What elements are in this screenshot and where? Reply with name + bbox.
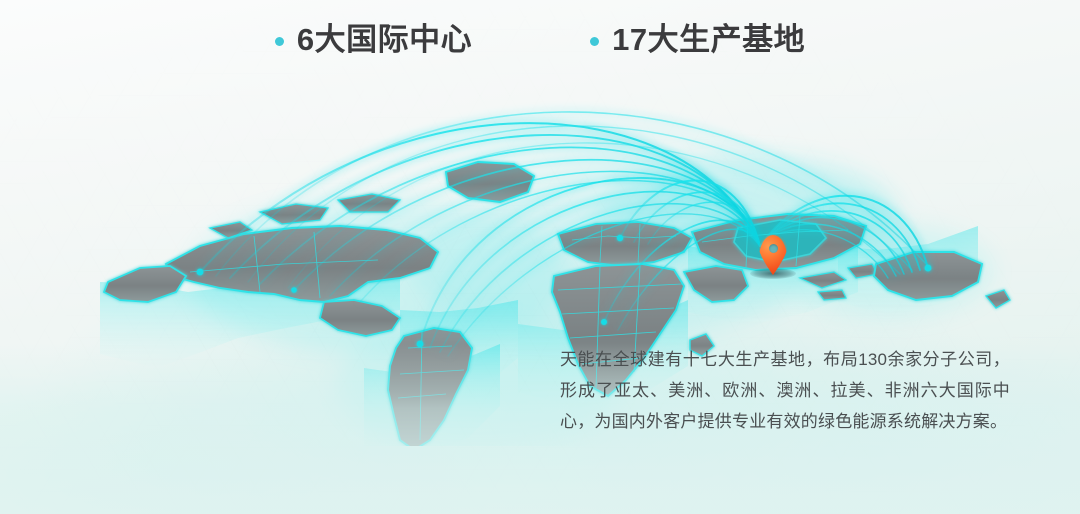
headings-row: 6大国际中心 17大生产基地	[0, 22, 1080, 58]
description-paragraph: 天能在全球建有十七大生产基地，布局130余家分子公司，形成了亚太、美洲、欧洲、澳…	[560, 344, 1010, 437]
pin-hole-icon	[769, 244, 778, 253]
pin-body-icon	[759, 235, 787, 275]
heading-item-international-centers: 6大国际中心	[275, 22, 472, 58]
bullet-dot-icon	[590, 37, 599, 46]
infographic-slide: 6大国际中心 17大生产基地 天能在全球建有十七大生产基地，布局130余家分子公…	[0, 0, 1080, 514]
heading-item-production-bases: 17大生产基地	[590, 22, 805, 58]
bullet-dot-icon	[275, 37, 284, 46]
heading-label-international-centers: 6大国际中心	[297, 22, 472, 58]
location-pin-marker[interactable]	[759, 235, 787, 275]
heading-label-production-bases: 17大生产基地	[612, 22, 805, 58]
description-block: 天能在全球建有十七大生产基地，布局130余家分子公司，形成了亚太、美洲、欧洲、澳…	[560, 344, 1010, 437]
greenland	[446, 162, 534, 202]
